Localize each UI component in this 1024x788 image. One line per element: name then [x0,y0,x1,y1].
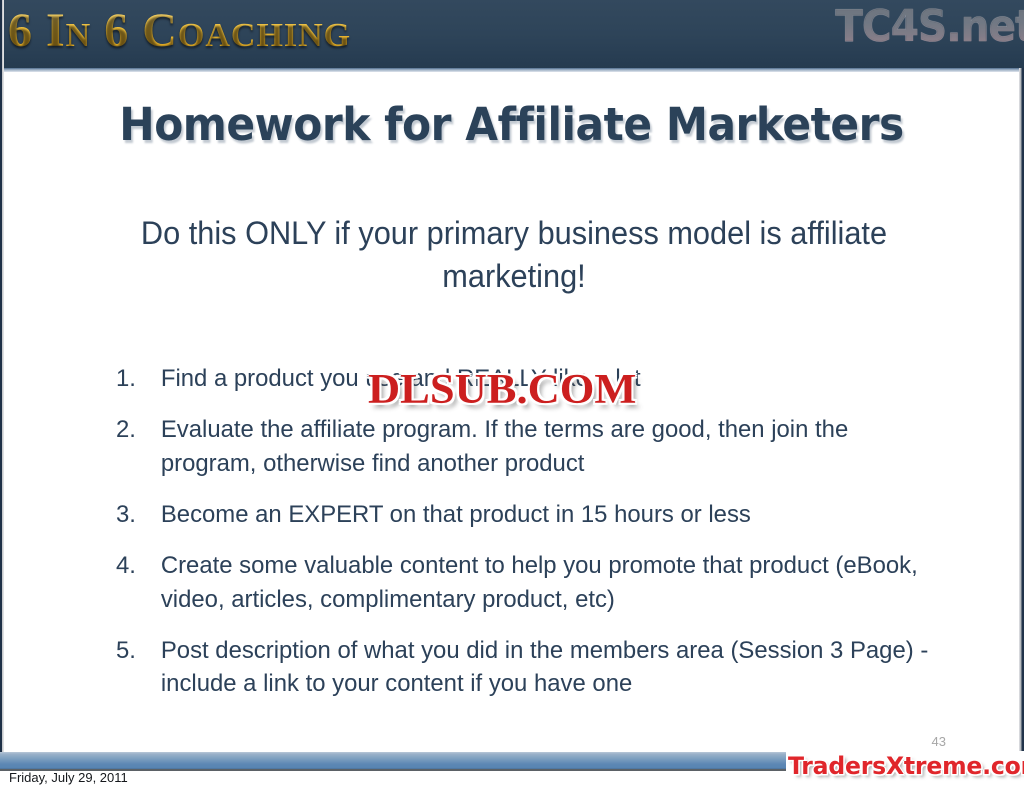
list-item-number: 5. [116,634,149,667]
list-item-text: Evaluate the affiliate program. If the t… [161,416,848,476]
list-item-number: 2. [116,413,149,446]
footer-date: Friday, July 29, 2011 [9,770,128,785]
list-item: 3. Become an EXPERT on that product in 1… [116,498,945,531]
tradersxtreme-site-logo: TradersXtreme.com [788,752,1024,780]
dlsub-watermark: DLSUB.COM [368,366,636,414]
tc4s-site-logo: TC4S.net [836,1,1024,52]
list-item-text: Create some valuable content to help you… [161,552,918,612]
list-item-number: 4. [116,549,149,582]
slide-subtitle: Do this ONLY if your primary business mo… [116,212,913,298]
slide-number: 43 [932,734,946,749]
list-item: 4. Create some valuable content to help … [116,549,945,616]
coaching-brand-logo: 6 In 6 Coaching [8,3,351,58]
homework-steps-list: 1. Find a product you use and REALLY lik… [116,362,966,719]
page-title: Homework for Affiliate Marketers [34,98,988,151]
list-item: 5. Post description of what you did in t… [116,634,945,701]
slide-right-border [1019,68,1024,772]
list-item-text: Become an EXPERT on that product in 15 h… [161,501,751,528]
list-item-number: 1. [116,362,149,395]
list-item-text: Post description of what you did in the … [161,637,928,697]
slide-header-band: 6 In 6 Coaching TC4S.net [0,0,1024,68]
list-item: 2. Evaluate the affiliate program. If th… [116,413,945,480]
presentation-slide: 6 In 6 Coaching TC4S.net Homework for Af… [0,0,1024,788]
list-item-number: 3. [116,498,149,531]
tradersxtreme-logo-plate: TradersXtreme.com [786,751,1024,788]
